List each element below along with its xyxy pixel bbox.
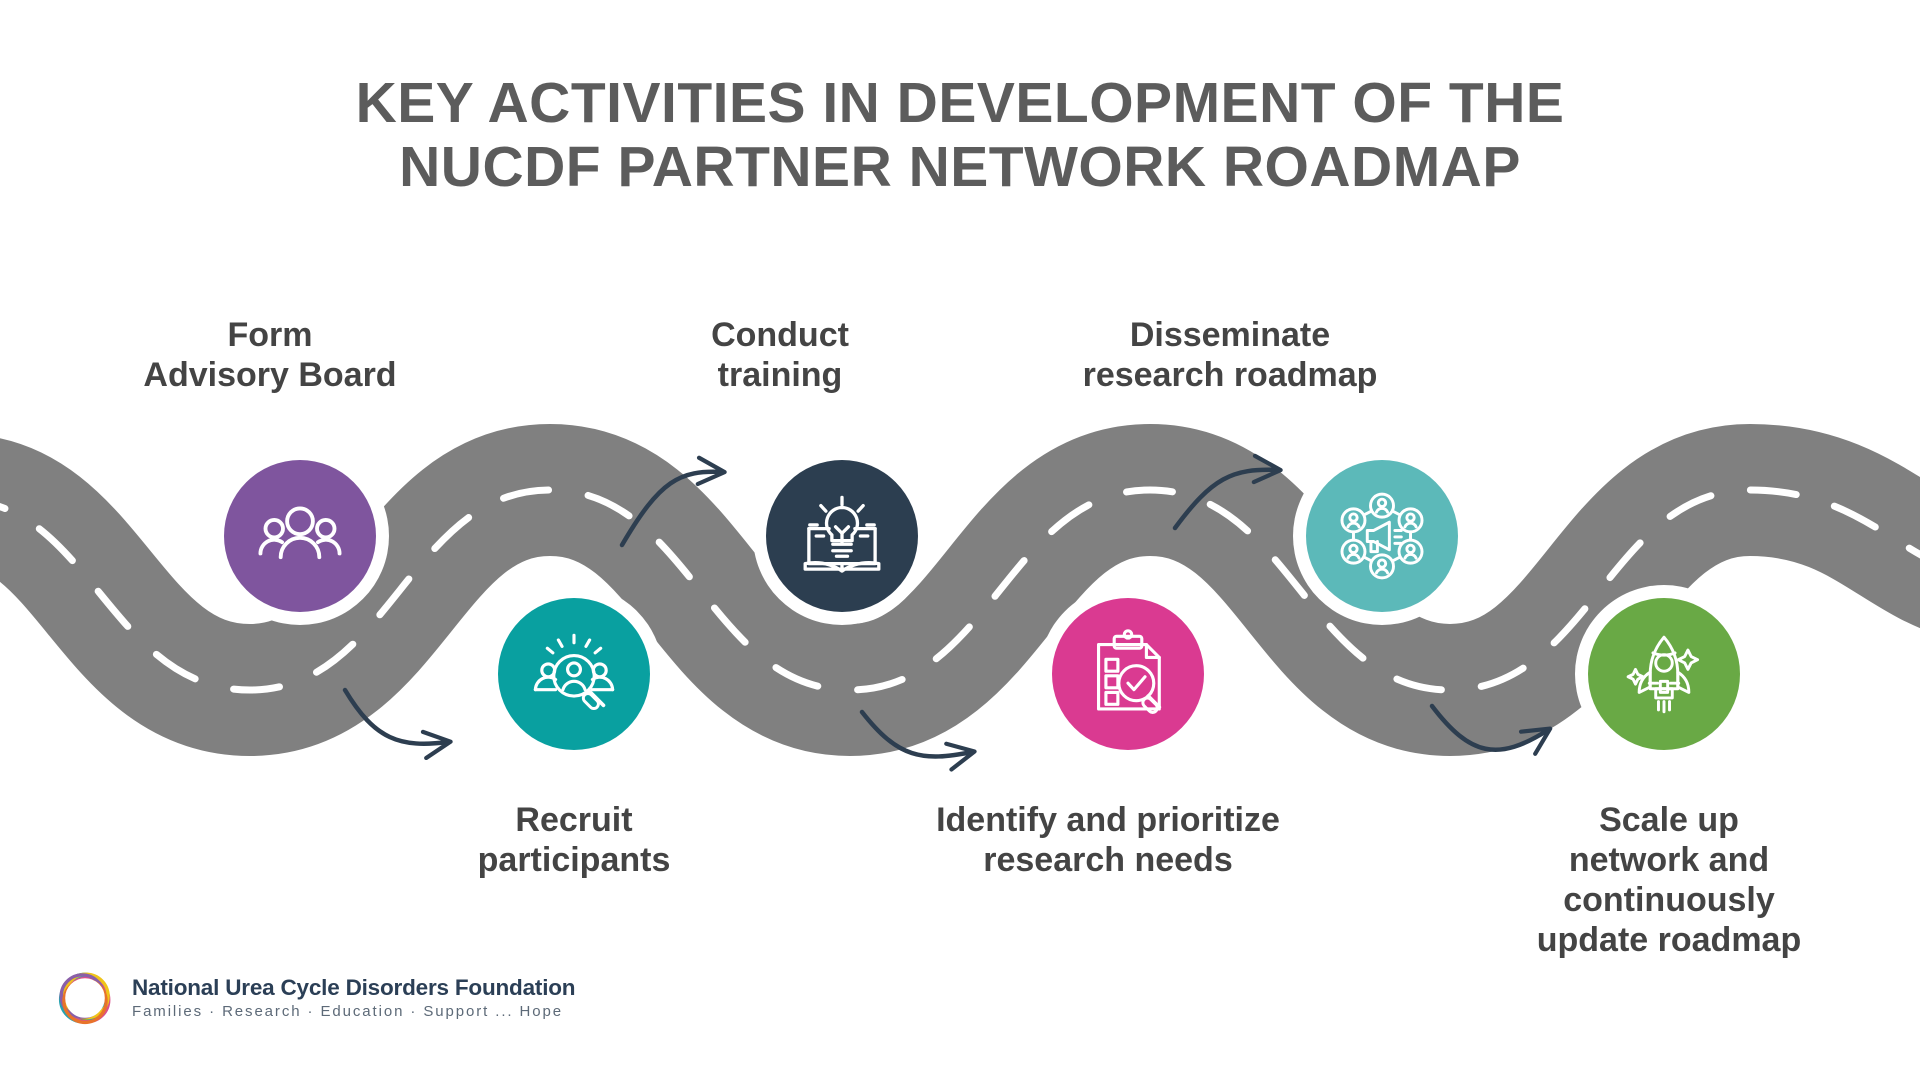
logo-tagline: Families · Research · Education · Suppor… xyxy=(132,1004,575,1021)
logo-organization-name: National Urea Cycle Disorders Foundation xyxy=(132,976,575,1001)
arrow-step2-to-step3 xyxy=(622,472,722,545)
logo-text-block: National Urea Cycle Disorders Foundation… xyxy=(132,976,575,1020)
page-title-line-2: NUCDF PARTNER NETWORK ROADMAP xyxy=(0,136,1920,200)
people-search-icon xyxy=(528,628,620,720)
page-title-line-1: KEY ACTIVITIES IN DEVELOPMENT OF THE xyxy=(0,72,1920,136)
nucdf-rings-logo-icon xyxy=(52,965,118,1031)
step-circle-disseminate-research-roadmap[interactable] xyxy=(1306,460,1458,612)
infographic-canvas: KEY ACTIVITIES IN DEVELOPMENT OF THE NUC… xyxy=(0,0,1920,1080)
clipboard-checkmark-icon xyxy=(1082,628,1174,720)
network-megaphone-icon xyxy=(1336,490,1428,582)
rocket-icon xyxy=(1618,628,1710,720)
step-circle-form-advisory-board[interactable] xyxy=(224,460,376,612)
step-label-conduct-training: Conduct training xyxy=(570,315,990,395)
arrow-step3-to-step4 xyxy=(862,712,972,756)
step-circle-identify-prioritize-research-needs[interactable] xyxy=(1052,598,1204,750)
arrow-step4-to-step5 xyxy=(1175,470,1278,528)
page-title: KEY ACTIVITIES IN DEVELOPMENT OF THE NUC… xyxy=(0,72,1920,200)
step-label-form-advisory-board: Form Advisory Board xyxy=(60,315,480,395)
nucdf-logo[interactable]: National Urea Cycle Disorders Foundation… xyxy=(52,965,575,1031)
step-label-identify-prioritize-research-needs: Identify and prioritize research needs xyxy=(878,800,1338,880)
book-lightbulb-icon xyxy=(796,490,888,582)
step-label-scale-up-network: Scale up network and continuously update… xyxy=(1474,800,1864,960)
step-label-recruit-participants: Recruit participants xyxy=(374,800,774,880)
group-people-icon xyxy=(254,490,346,582)
arrow-step1-to-step2 xyxy=(345,690,448,744)
arrow-step5-to-step6 xyxy=(1432,706,1548,750)
step-circle-scale-up-network[interactable] xyxy=(1588,598,1740,750)
step-circle-conduct-training[interactable] xyxy=(766,460,918,612)
step-circle-recruit-participants[interactable] xyxy=(498,598,650,750)
step-label-disseminate-research-roadmap: Disseminate research roadmap xyxy=(1000,315,1460,395)
